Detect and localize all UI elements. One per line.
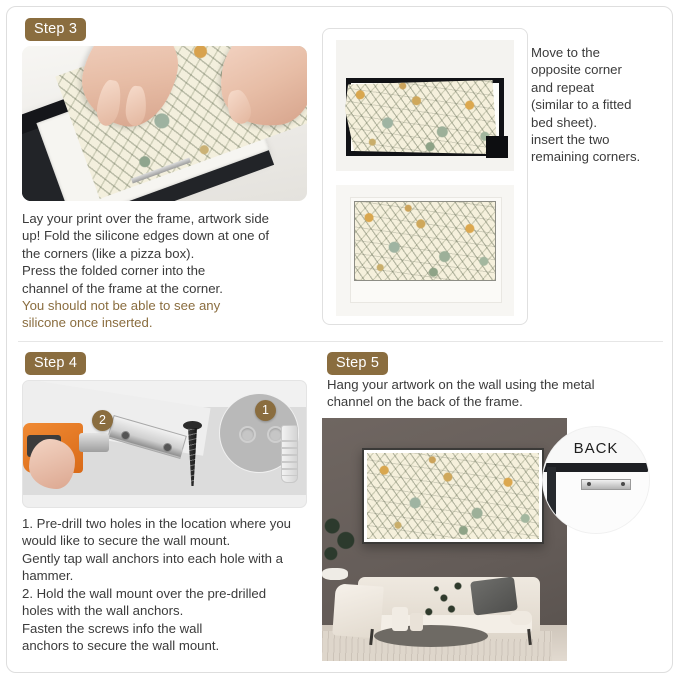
step-5-photo-room: BACK bbox=[322, 418, 663, 661]
step-3-side-instructions: Move to the opposite corner and repeat (… bbox=[531, 44, 661, 166]
floral-print-loose bbox=[345, 80, 497, 154]
step-5-instructions: Hang your artwork on the wall using the … bbox=[327, 376, 657, 411]
bracket-hole-2 bbox=[163, 443, 172, 452]
step-3-photo-print-fitted bbox=[336, 185, 514, 316]
frame-back-left-edge bbox=[547, 467, 556, 533]
callout-badge-1: 1 bbox=[255, 400, 276, 421]
step-4-instructions-part1: 1. Pre-drill two holes in the location w… bbox=[22, 515, 312, 585]
hand-holding-drill bbox=[29, 439, 75, 489]
section-divider bbox=[18, 341, 663, 342]
channel-screw-right bbox=[621, 482, 625, 486]
step-3-note: You should not be able to see any silico… bbox=[22, 297, 308, 332]
step-3-instructions: Lay your print over the frame, artwork s… bbox=[22, 210, 308, 297]
channel-screw-left bbox=[587, 482, 591, 486]
wall-anchor bbox=[281, 425, 298, 483]
decor-vase-tall bbox=[392, 607, 408, 631]
frame-back-inset: BACK bbox=[542, 426, 650, 534]
step-4-badge: Step 4 bbox=[25, 352, 86, 375]
decor-branch bbox=[418, 575, 472, 621]
baseboard bbox=[23, 495, 306, 507]
gray-throw-pillow bbox=[470, 576, 518, 615]
callout-badge-2: 2 bbox=[92, 410, 113, 431]
step-5-badge: Step 5 bbox=[327, 352, 388, 375]
frame-corner-shadow bbox=[486, 136, 508, 158]
side-table bbox=[322, 568, 348, 580]
step-3-photo-folding-print bbox=[22, 46, 307, 201]
power-drill-chuck bbox=[79, 433, 109, 452]
knit-throw-blanket bbox=[332, 583, 384, 638]
house-plant bbox=[322, 514, 356, 574]
frame-back-top-edge bbox=[544, 463, 650, 472]
step-3-photo-print-draped bbox=[336, 40, 514, 171]
back-label: BACK bbox=[543, 440, 649, 457]
drilled-hole-left bbox=[239, 426, 256, 443]
instruction-sheet: Step 3 Lay your print over the frame, ar… bbox=[0, 0, 679, 679]
step-4-instructions-part2: 2. Hold the wall mount over the pre-dril… bbox=[22, 585, 312, 655]
bracket-hole-1 bbox=[121, 431, 130, 440]
floral-print-fitted bbox=[354, 201, 496, 281]
hung-artwork-frame bbox=[362, 448, 544, 544]
bolster-pillow bbox=[510, 611, 532, 625]
step-3-badge: Step 3 bbox=[25, 18, 86, 41]
hung-artwork-print bbox=[367, 453, 539, 539]
